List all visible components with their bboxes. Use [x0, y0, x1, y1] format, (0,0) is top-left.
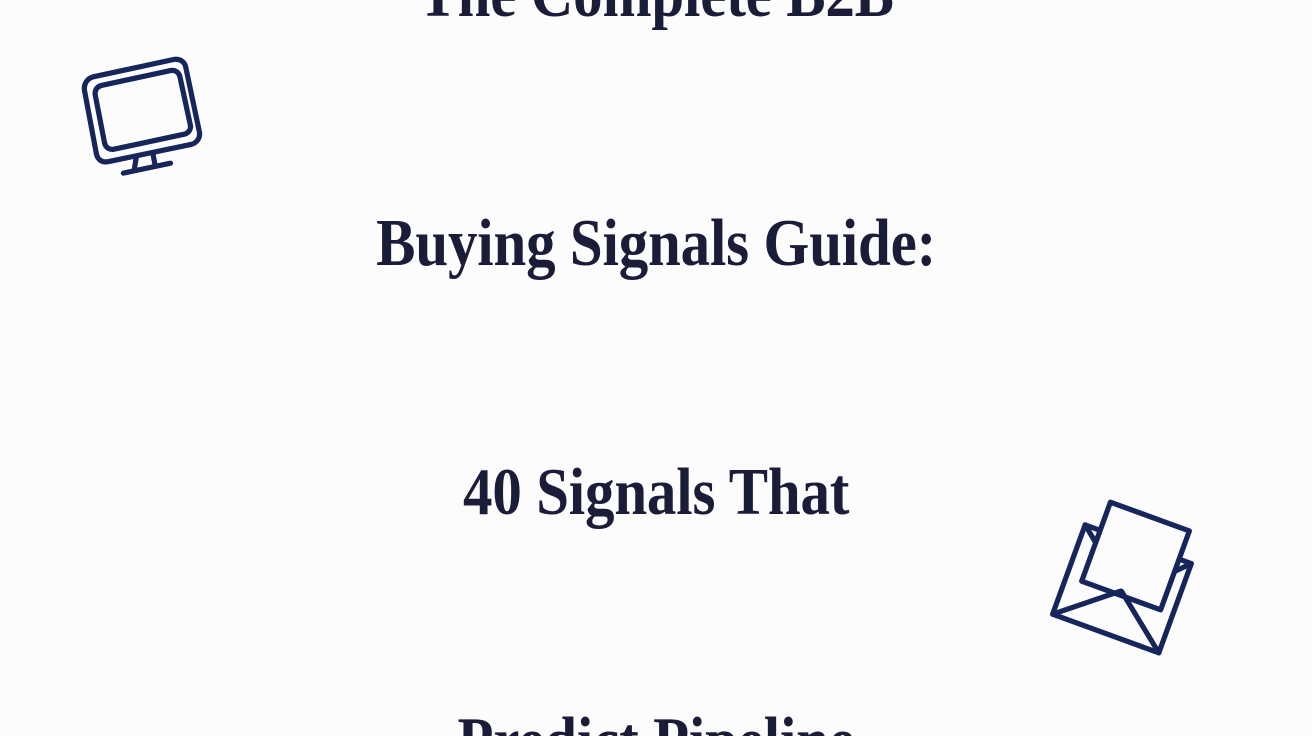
title-line-4: Predict Pipeline	[376, 700, 936, 736]
title-line-2: Buying Signals Guide:	[376, 202, 936, 285]
title-line-3: 40 Signals That	[376, 451, 936, 534]
title-line-1: The Complete B2B	[376, 0, 936, 36]
envelope-icon	[1040, 492, 1210, 672]
slide-canvas: The Complete B2B Buying Signals Guide: 4…	[0, 0, 1312, 736]
page-title: The Complete B2B Buying Signals Guide: 4…	[376, 0, 936, 736]
monitor-icon	[68, 52, 208, 177]
